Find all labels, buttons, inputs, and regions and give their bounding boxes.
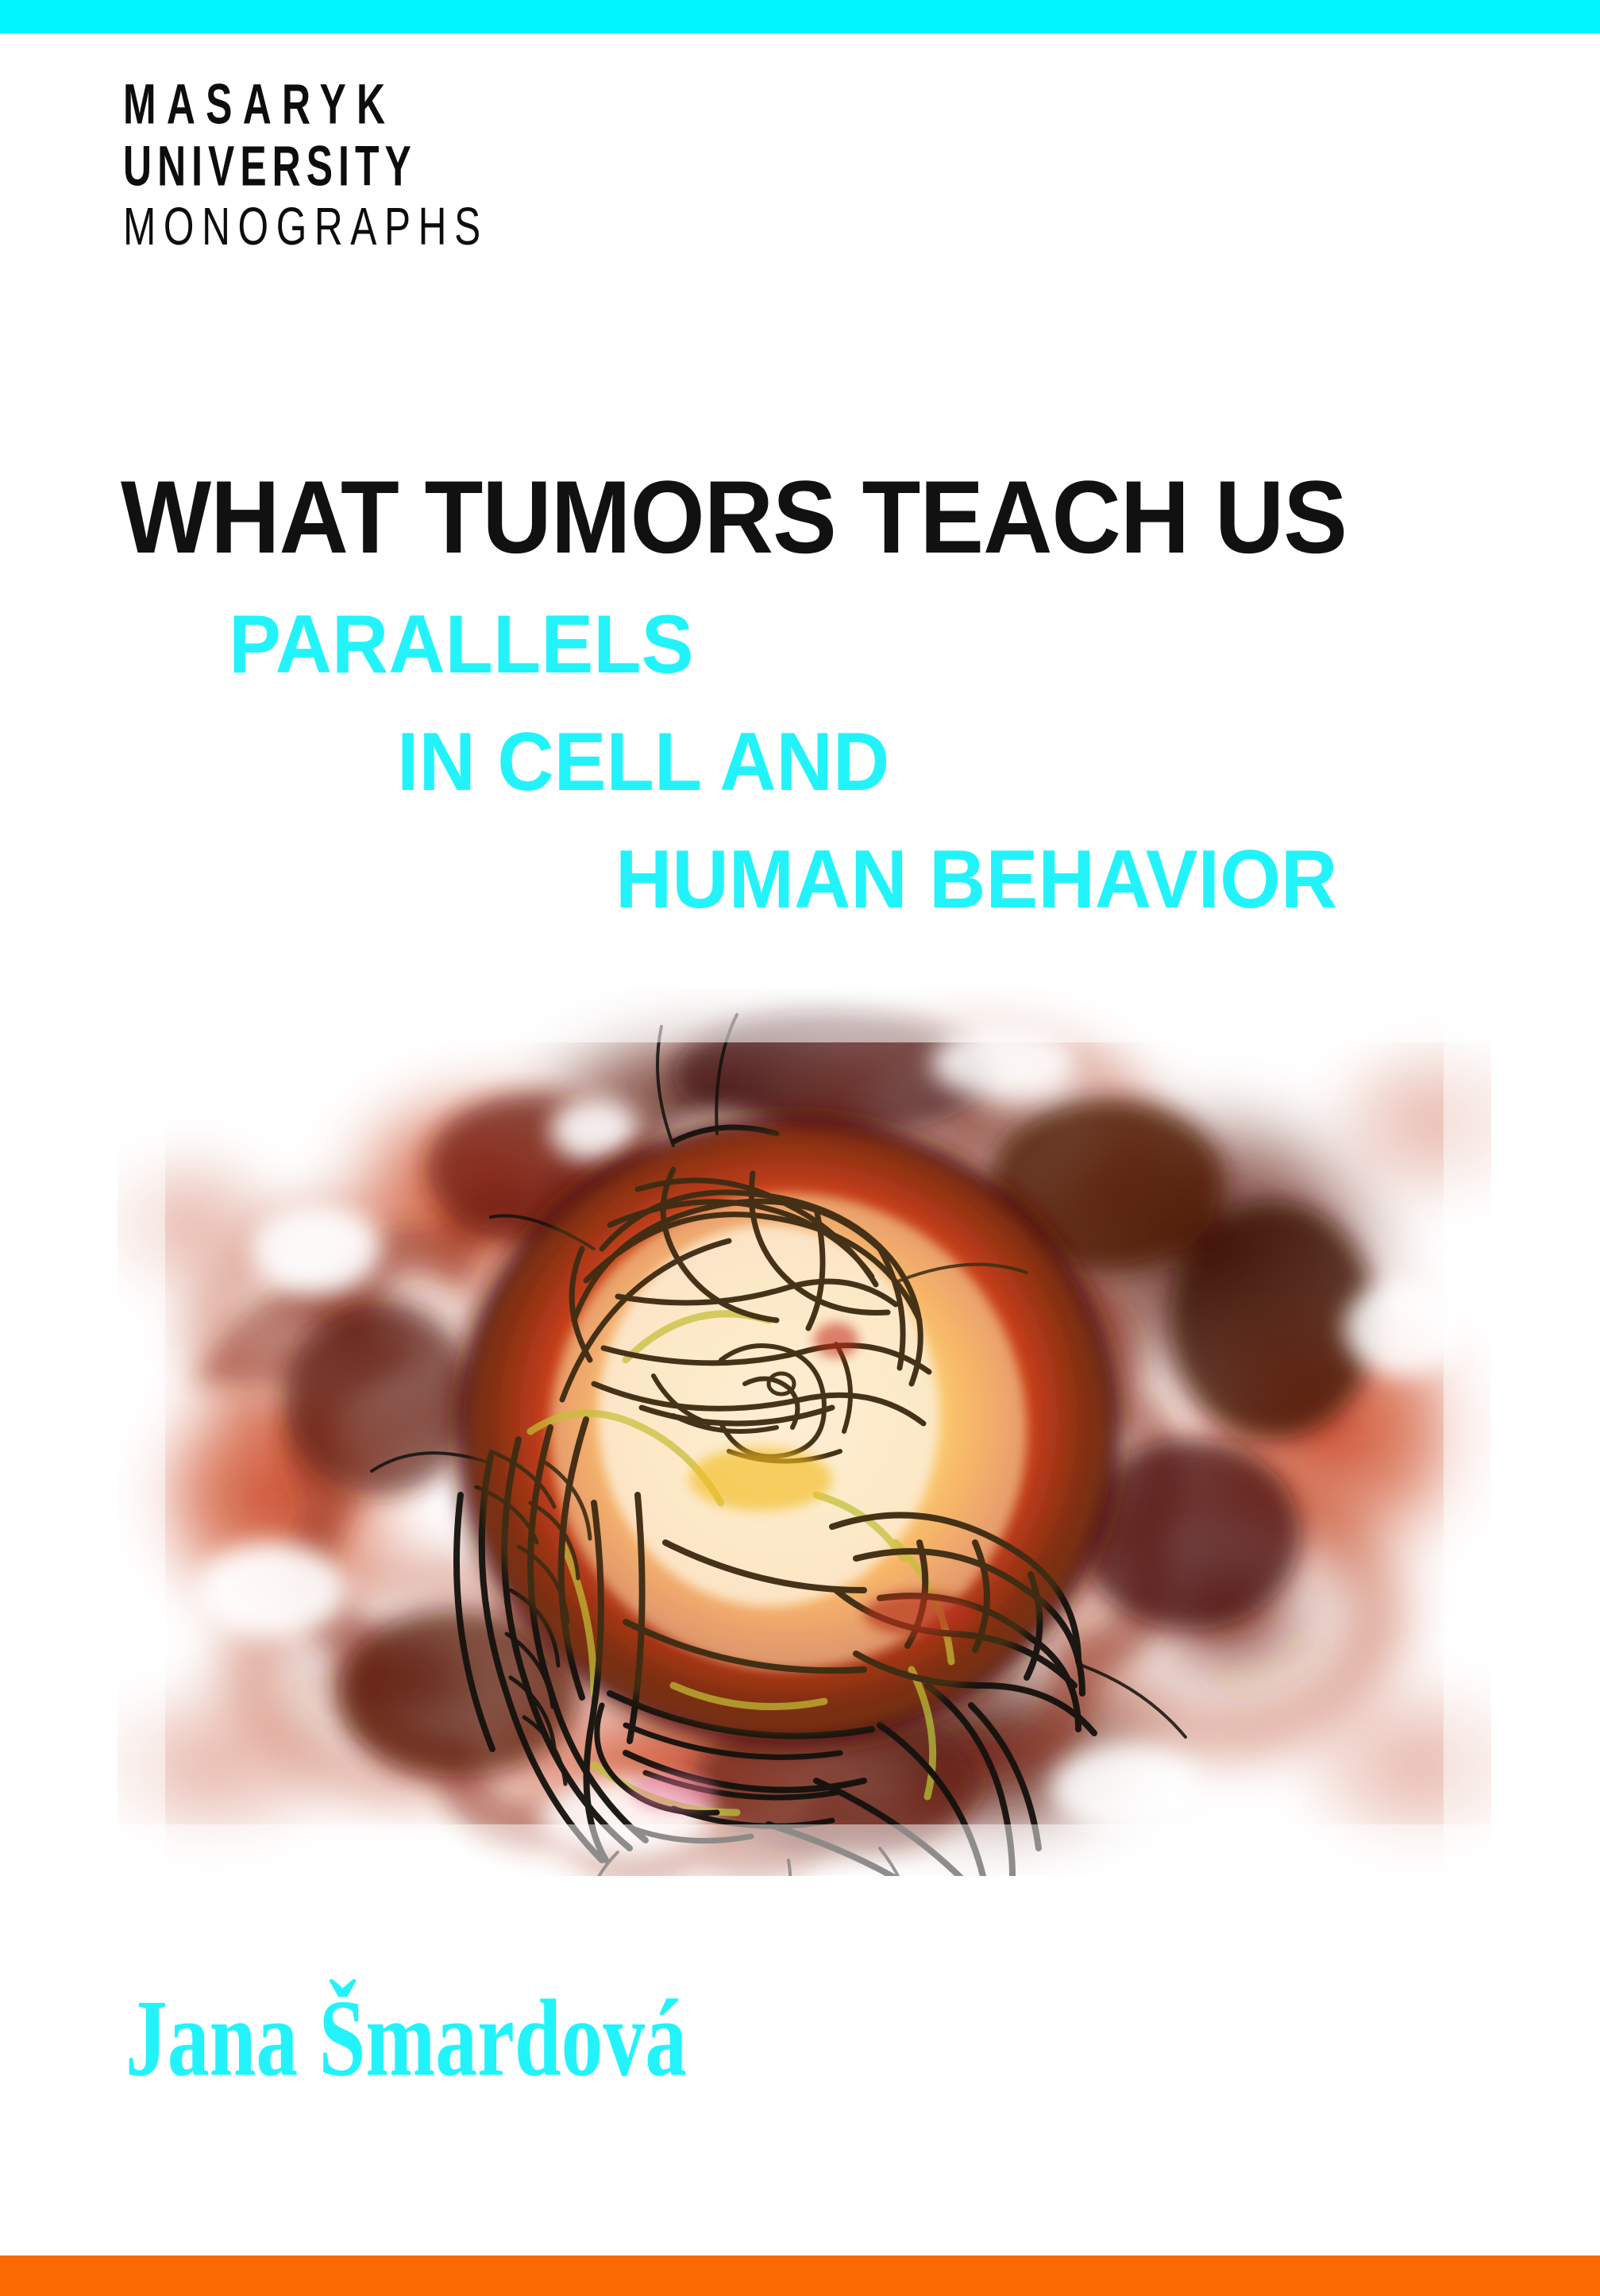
cover-artwork-illustration xyxy=(118,987,1491,1876)
book-title: WHAT TUMORS TEACH US xyxy=(121,465,1347,568)
cover-artwork xyxy=(118,987,1491,1876)
book-subtitle-line-1: PARALLELS xyxy=(229,603,693,686)
author-name: Jana Šmardová xyxy=(125,1983,687,2094)
book-subtitle-line-3: HUMAN BEHAVIOR xyxy=(615,838,1337,921)
publisher-logo-line-monographs: MONOGRAPHS xyxy=(123,201,631,254)
top-accent-band xyxy=(0,0,1600,33)
book-subtitle-line-2: IN CELL AND xyxy=(397,721,889,803)
bottom-accent-band xyxy=(0,2256,1600,2296)
publisher-logo-line-masaryk: MASARYK xyxy=(123,75,619,133)
publisher-logo-line-university: UNIVERSITY xyxy=(123,137,619,195)
publisher-logo: MASARYK UNIVERSITY MONOGRAPHS xyxy=(123,75,758,250)
